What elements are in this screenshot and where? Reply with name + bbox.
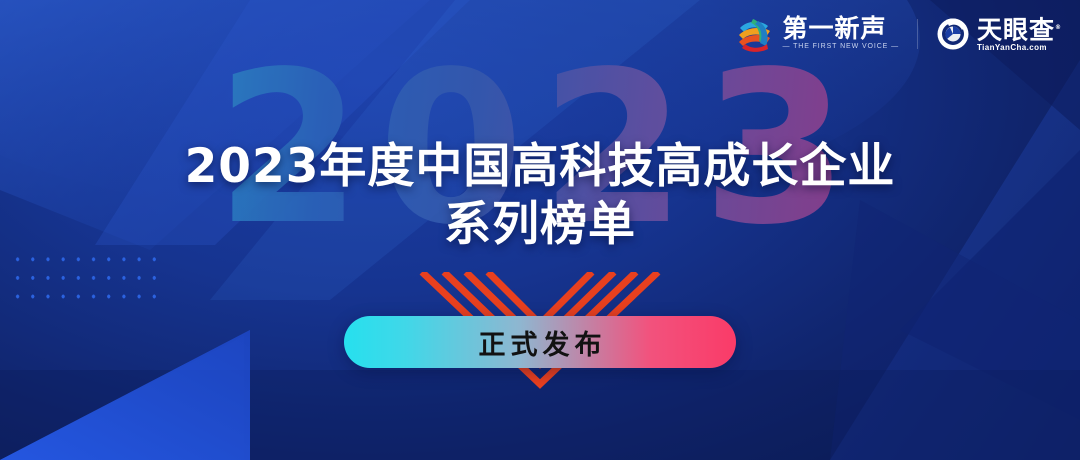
logo-tianyancha-cn-label: 天眼查 [977,15,1055,44]
release-status-label: 正式发布 [474,323,607,362]
dot-grid-decoration [8,248,156,310]
logo-tianyancha-en: TianYanCha.com [977,43,1062,53]
logo-divider [917,19,918,49]
title-line-primary: 2023年度中国高科技高成长企业 [0,138,1080,196]
logo-diyixinsheng-text: 第一新声 — THE FIRST NEW VOICE — [782,16,899,52]
logo-tianyancha[interactable]: 天眼查® TianYanCha.com [936,15,1062,53]
release-status-pill[interactable]: 正式发布 [344,316,736,368]
logo-diyixinsheng-en: — THE FIRST NEW VOICE — [782,42,899,52]
trademark-symbol: ® [1055,24,1062,31]
logo-tianyancha-cn: 天眼查® [977,15,1062,43]
promo-poster: 2023 2023年度中国高科技高成长企业 系列榜单 正式发布 [0,0,1080,460]
poster-title: 2023年度中国高科技高成长企业 系列榜单 [0,138,1080,254]
logo-bar: 第一新声 — THE FIRST NEW VOICE — 天眼查® TianYa… [735,14,1062,54]
logo-tianyancha-text: 天眼查® TianYanCha.com [977,15,1062,53]
logo-diyixinsheng[interactable]: 第一新声 — THE FIRST NEW VOICE — [735,14,899,54]
ribbon-swirl-logo-icon [735,14,775,54]
camera-lens-eye-logo-icon [936,17,970,51]
title-line-secondary: 系列榜单 [0,196,1080,254]
logo-diyixinsheng-cn: 第一新声 [782,16,899,42]
